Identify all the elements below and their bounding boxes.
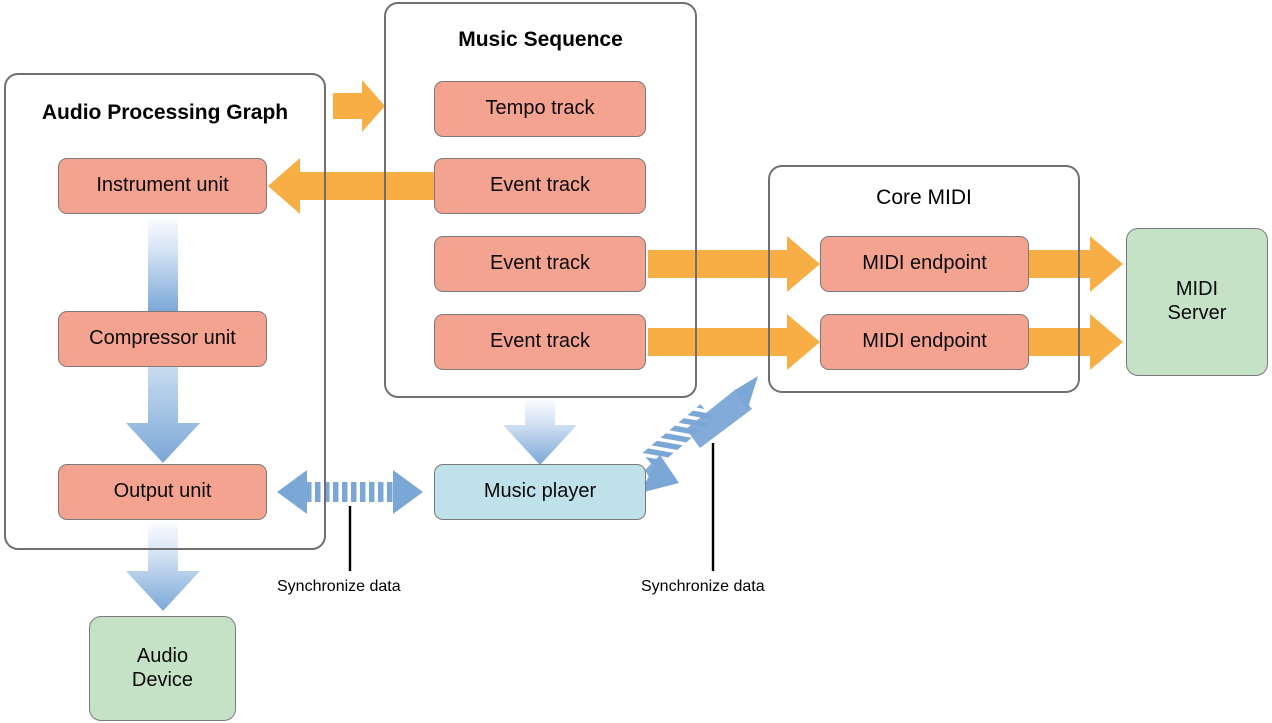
node-audio-device-line2: Device [132,669,193,693]
node-midi-endpoint-2[interactable]: MIDI endpoint [820,314,1029,370]
node-event-track-1[interactable]: Event track [434,158,646,214]
group-title-core-midi: Core MIDI [768,186,1080,210]
node-instrument-unit[interactable]: Instrument unit [58,158,267,214]
caption-sync-left: Synchronize data [277,578,401,596]
node-midi-server[interactable]: MIDI Server [1126,228,1268,376]
node-event-track-2[interactable]: Event track [434,236,646,292]
node-midi-endpoint-1[interactable]: MIDI endpoint [820,236,1029,292]
node-event-track-3[interactable]: Event track [434,314,646,370]
arrow-sequence-to-musicplayer [503,397,577,465]
node-music-player[interactable]: Music player [434,464,646,520]
arrow-graph-to-sequence [333,80,385,132]
node-tempo-track[interactable]: Tempo track [434,81,646,137]
group-title-audio-processing-graph: Audio Processing Graph [4,101,326,125]
caption-sync-right: Synchronize data [641,578,765,596]
node-midi-server-line1: MIDI [1176,278,1218,302]
node-output-unit[interactable]: Output unit [58,464,267,520]
node-midi-server-line2: Server [1168,302,1227,326]
node-compressor-unit[interactable]: Compressor unit [58,311,267,367]
diagram-canvas: Audio Processing Graph Music Sequence Co… [0,0,1272,723]
node-audio-device-line1: Audio [137,645,188,669]
group-title-music-sequence: Music Sequence [384,28,697,52]
node-audio-device[interactable]: Audio Device [89,616,236,721]
